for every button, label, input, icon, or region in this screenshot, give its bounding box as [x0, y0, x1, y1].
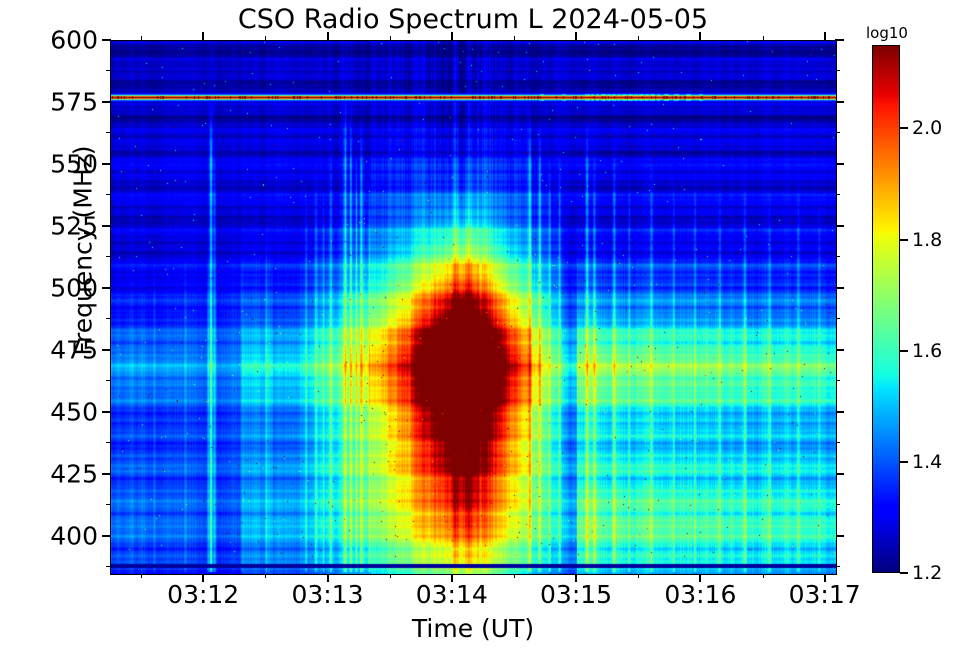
x-tick-label: 03:16 — [640, 580, 760, 609]
x-tick-label: 03:15 — [516, 580, 636, 609]
colorbar-tick-mark — [900, 127, 908, 129]
y-tick-label: 550 — [6, 149, 98, 178]
y-tick-label: 575 — [6, 87, 98, 116]
y-tick-label: 525 — [6, 211, 98, 240]
spectrogram-plot-area[interactable] — [110, 40, 837, 575]
x-tick-label: 03:13 — [268, 580, 388, 609]
x-tick-label: 03:12 — [143, 580, 263, 609]
y-tick-label: 600 — [6, 26, 98, 55]
colorbar[interactable] — [872, 45, 900, 573]
y-tick-label: 475 — [6, 335, 98, 364]
x-axis-label: Time (UT) — [110, 614, 836, 643]
colorbar-tick-label: 1.8 — [912, 229, 942, 251]
colorbar-tick-mark — [900, 239, 908, 241]
colorbar-tick-label: 1.4 — [912, 451, 942, 473]
y-tick-label: 425 — [6, 459, 98, 488]
page-title: CSO Radio Spectrum L 2024-05-05 — [110, 4, 836, 35]
colorbar-tick-label: 2.0 — [912, 117, 942, 139]
colorbar-tick-label: 1.6 — [912, 340, 942, 362]
colorbar-tick-mark — [900, 461, 908, 463]
radio-spectrum-figure: CSO Radio Spectrum L 2024-05-05 Frequenc… — [0, 0, 964, 653]
spectrogram-heatmap — [111, 41, 836, 574]
colorbar-tick-label: 1.2 — [912, 562, 942, 584]
colorbar-tick-mark — [900, 350, 908, 352]
y-tick-label: 450 — [6, 397, 98, 426]
x-tick-label: 03:14 — [392, 580, 512, 609]
colorbar-tick-mark — [900, 572, 908, 574]
colorbar-gradient — [872, 45, 900, 573]
y-tick-label: 500 — [6, 273, 98, 302]
x-tick-label: 03:17 — [765, 580, 885, 609]
colorbar-title: log10 — [866, 24, 908, 42]
y-tick-label: 400 — [6, 521, 98, 550]
